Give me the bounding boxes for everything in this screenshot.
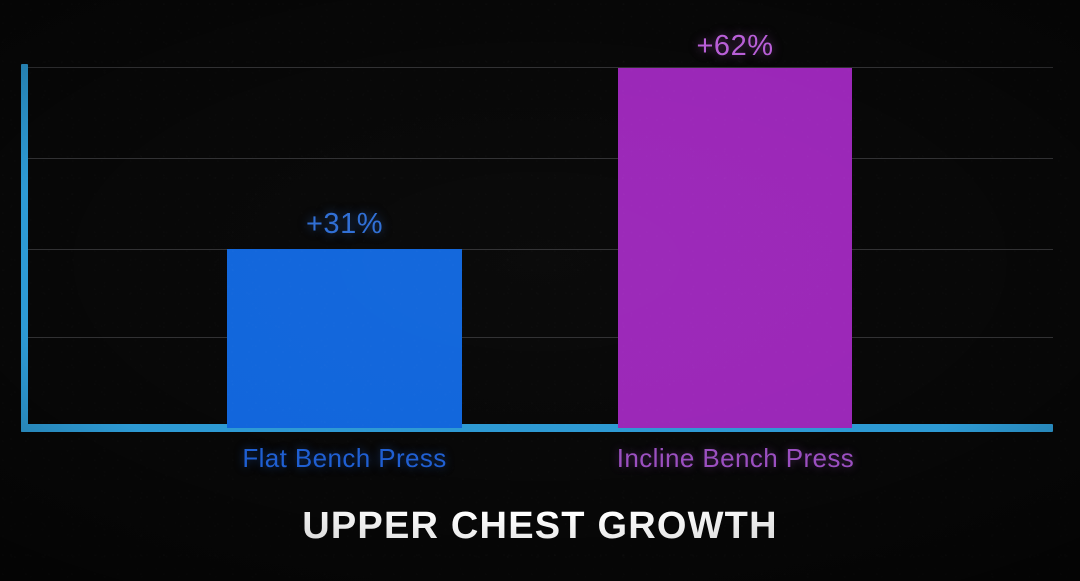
gridline-3 (26, 158, 1053, 159)
plot-area: +31% +62% Flat Bench Press Incline Bench… (0, 0, 1080, 581)
bar-incline-bench-press (618, 68, 852, 428)
gridline-2 (26, 249, 1053, 250)
gridline-top (26, 67, 1053, 68)
chart-title: UPPER CHEST GROWTH (0, 505, 1080, 548)
x-axis-label-flat-bench-press: Flat Bench Press (187, 443, 502, 474)
bar-value-label-flat: +31% (227, 208, 462, 241)
x-axis-label-incline-bench-press: Incline Bench Press (578, 443, 893, 474)
bar-value-label-incline: +62% (618, 30, 852, 63)
gridline-1 (26, 337, 1053, 338)
x-axis-line (21, 424, 1053, 432)
chart-canvas: +31% +62% Flat Bench Press Incline Bench… (0, 0, 1080, 581)
bar-flat-bench-press (227, 249, 462, 428)
y-axis-line (21, 64, 28, 432)
